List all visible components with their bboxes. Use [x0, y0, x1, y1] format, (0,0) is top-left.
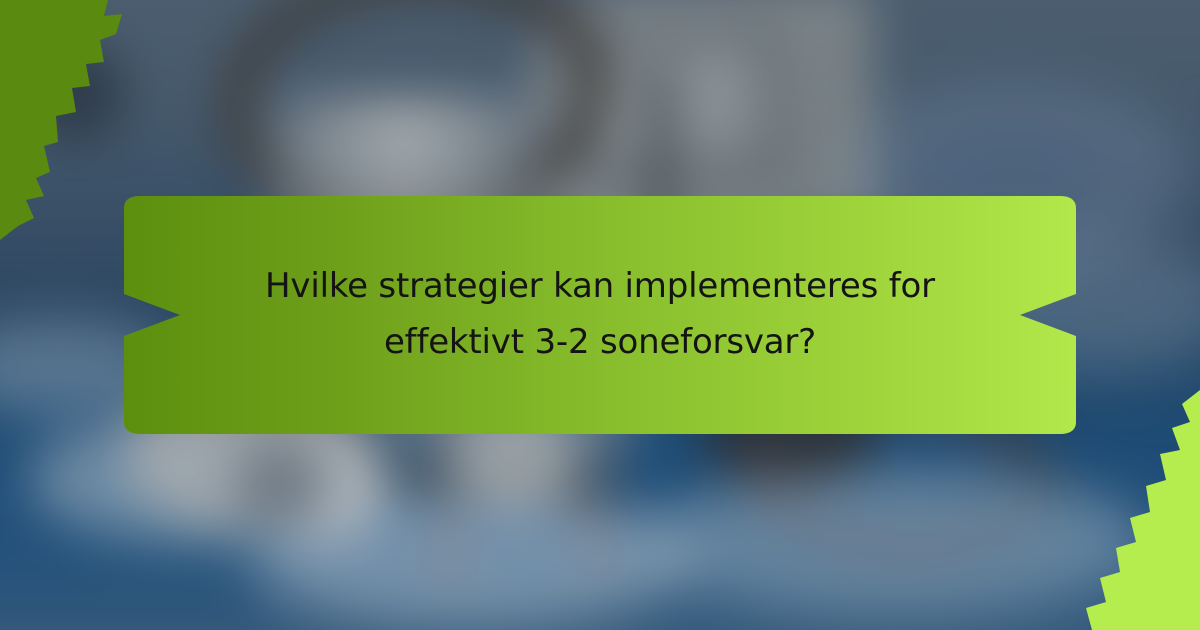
headline-banner: Hvilke strategier kan implementeres for … [108, 196, 1092, 434]
share-card: Hvilke strategier kan implementeres for … [0, 0, 1200, 630]
headline-line-2: effektivt 3-2 soneforsvar? [384, 321, 816, 365]
headline-line-1: Hvilke strategier kan implementeres for [265, 265, 935, 309]
headline-text-wrap: Hvilke strategier kan implementeres for … [108, 196, 1092, 434]
